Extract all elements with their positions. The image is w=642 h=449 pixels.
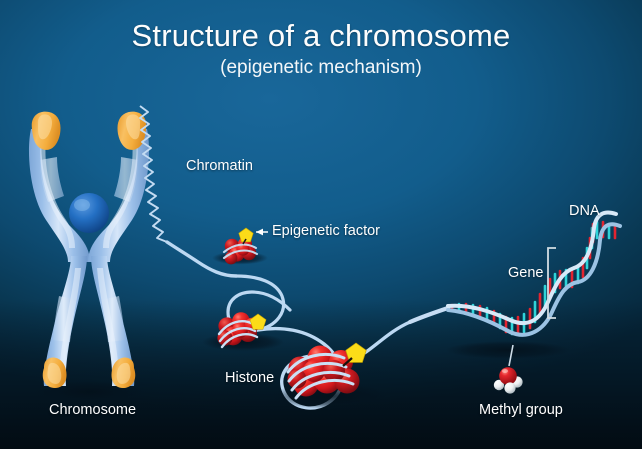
label-epigenetic-factor: Epigenetic factor	[272, 223, 380, 239]
histone-cluster-b	[202, 312, 284, 351]
telomere-caps	[32, 112, 147, 388]
label-chromatin: Chromatin	[186, 158, 253, 174]
epigenetic-factor-b	[250, 314, 266, 329]
chromosome-graphic	[29, 112, 149, 403]
diagram-canvas: Structure of a chromosome (epigenetic me…	[0, 0, 642, 449]
dna-double-helix	[446, 213, 620, 359]
centromere	[69, 193, 109, 233]
histone-cluster-c	[272, 343, 388, 409]
label-dna: DNA	[569, 203, 600, 219]
epigenetic-factor-arrow	[256, 229, 268, 236]
page-title: Structure of a chromosome	[0, 18, 642, 54]
page-subtitle: (epigenetic mechanism)	[0, 57, 642, 79]
label-histone: Histone	[225, 370, 274, 386]
label-gene: Gene	[508, 265, 543, 281]
label-chromosome: Chromosome	[49, 402, 136, 418]
label-methyl-group: Methyl group	[479, 402, 563, 418]
